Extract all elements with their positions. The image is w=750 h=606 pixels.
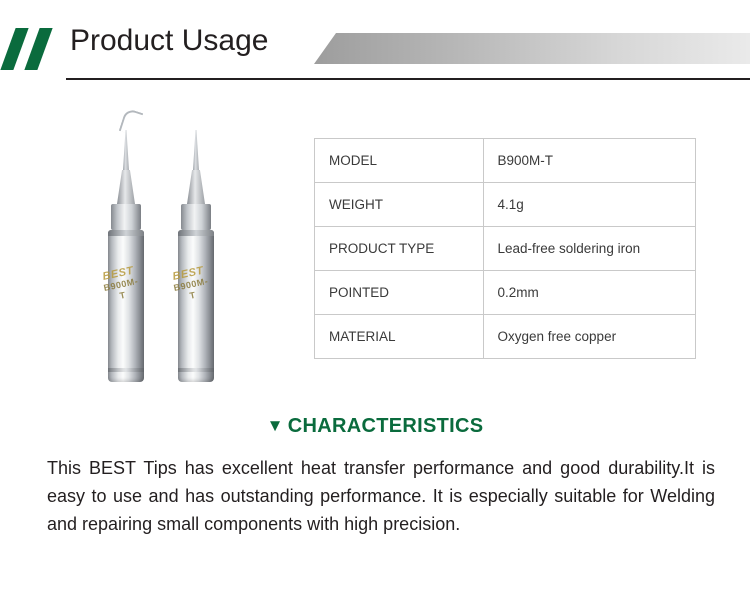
spec-value: Lead-free soldering iron	[483, 227, 696, 271]
content-area: BEST B900M-T BEST B900M-T MODEL B900M-T	[0, 92, 750, 392]
page-header: Product Usage	[0, 0, 750, 92]
table-row: MATERIAL Oxygen free copper	[315, 315, 696, 359]
characteristics-heading: ▼CHARACTERISTICS	[0, 415, 750, 438]
spec-value: B900M-T	[483, 139, 696, 183]
spec-key: MODEL	[315, 139, 484, 183]
header-gradient-bar	[314, 33, 750, 64]
characteristics-heading-text: CHARACTERISTICS	[288, 415, 484, 437]
solder-tip-straight: BEST B900M-T	[178, 132, 214, 382]
triangle-down-icon: ▼	[267, 416, 284, 436]
spec-value: 0.2mm	[483, 271, 696, 315]
header-divider	[66, 78, 750, 80]
page-title: Product Usage	[70, 24, 268, 58]
spec-key: MATERIAL	[315, 315, 484, 359]
spec-value: Oxygen free copper	[483, 315, 696, 359]
spec-key: WEIGHT	[315, 183, 484, 227]
table-row: POINTED 0.2mm	[315, 271, 696, 315]
tip-label-art: BEST B900M-T	[170, 265, 221, 356]
spec-key: PRODUCT TYPE	[315, 227, 484, 271]
spec-value: 4.1g	[483, 183, 696, 227]
solder-tip-bent: BEST B900M-T	[108, 132, 144, 382]
product-image: BEST B900M-T BEST B900M-T	[60, 102, 290, 382]
spec-key: POINTED	[315, 271, 484, 315]
table-row: WEIGHT 4.1g	[315, 183, 696, 227]
table-row: PRODUCT TYPE Lead-free soldering iron	[315, 227, 696, 271]
table-row: MODEL B900M-T	[315, 139, 696, 183]
accent-slashes-icon	[8, 28, 64, 70]
tip-label-art: BEST B900M-T	[100, 265, 151, 356]
specification-table: MODEL B900M-T WEIGHT 4.1g PRODUCT TYPE L…	[314, 138, 696, 359]
characteristics-body: This BEST Tips has excellent heat transf…	[47, 454, 715, 538]
